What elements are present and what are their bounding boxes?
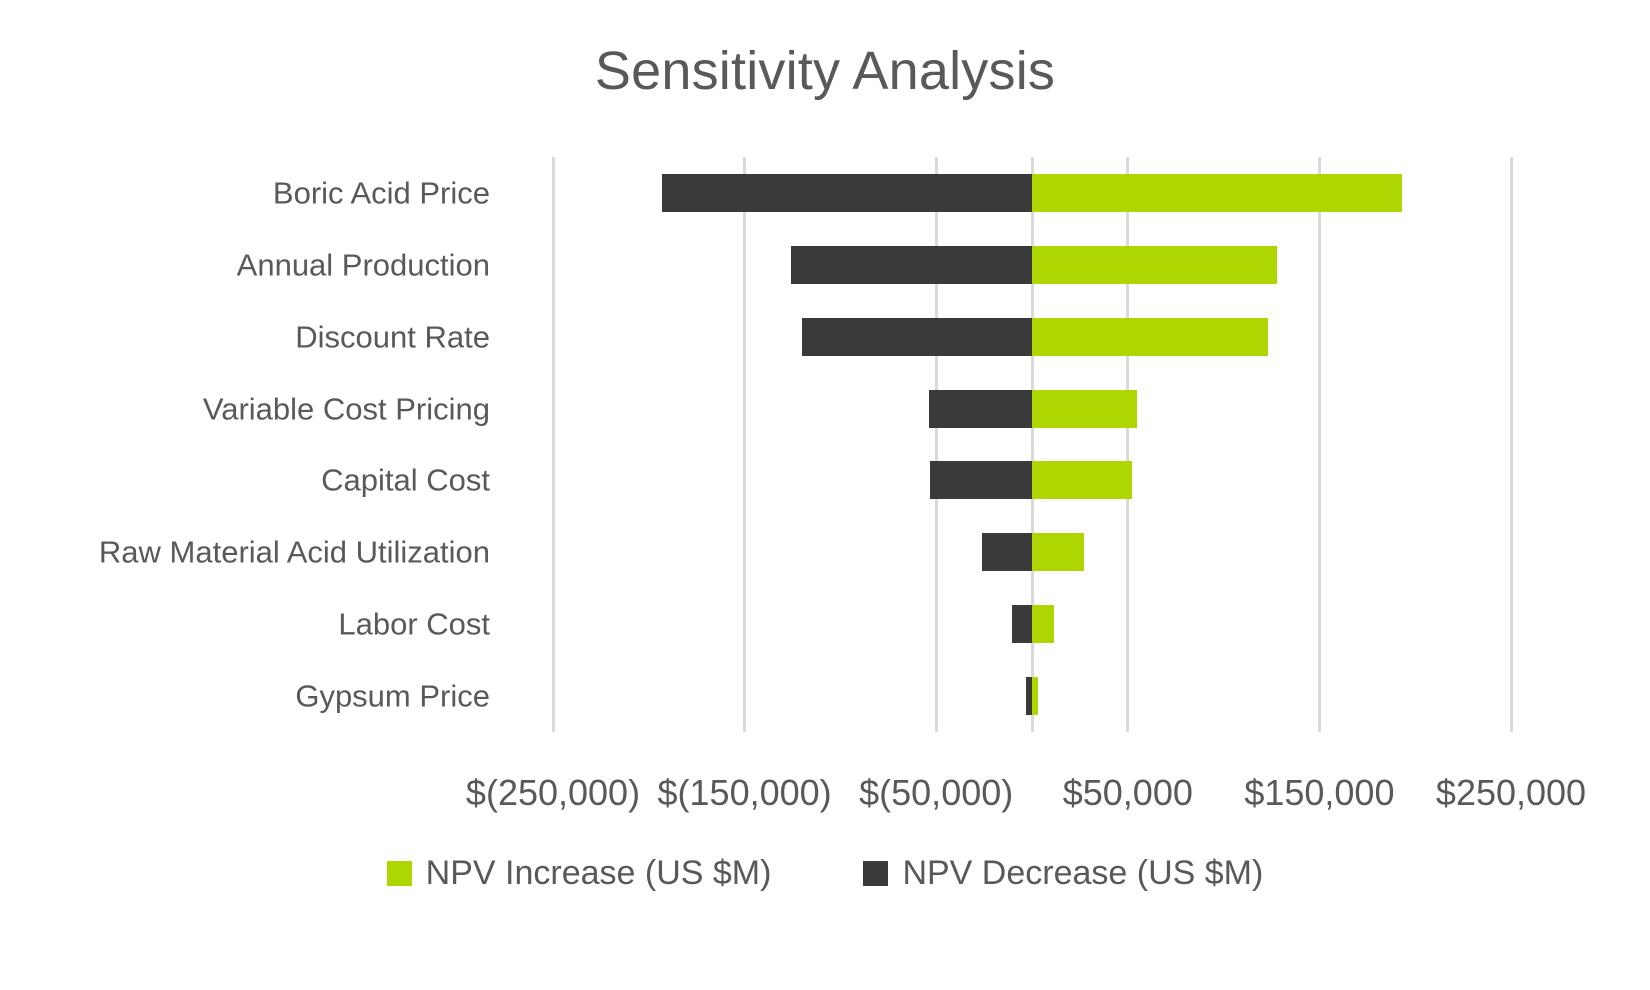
bar-row: Capital Cost [0, 445, 1650, 517]
bar-npv-decrease[interactable] [930, 461, 1032, 499]
bar-npv-increase[interactable] [1032, 677, 1038, 715]
bar-npv-decrease[interactable] [662, 174, 1032, 212]
x-tick-label: $(150,000) [658, 770, 832, 815]
category-label: Boric Acid Price [273, 177, 490, 208]
bar-npv-increase[interactable] [1032, 461, 1132, 499]
chart-legend: NPV Increase (US $M)NPV Decrease (US $M) [0, 856, 1650, 890]
category-label: Capital Cost [321, 465, 490, 496]
bar-row: Annual Production [0, 229, 1650, 301]
chart-title: Sensitivity Analysis [0, 42, 1650, 101]
bar-npv-increase[interactable] [1032, 533, 1084, 571]
bar-npv-increase[interactable] [1032, 174, 1402, 212]
category-label: Gypsum Price [295, 681, 490, 712]
sensitivity-analysis-chart: Sensitivity Analysis Boric Acid PriceAnn… [0, 0, 1650, 990]
x-tick-label: $(50,000) [859, 770, 1013, 815]
legend-item[interactable]: NPV Decrease (US $M) [863, 856, 1263, 890]
category-label: Labor Cost [338, 609, 490, 640]
category-label: Raw Material Acid Utilization [99, 537, 490, 568]
category-label: Variable Cost Pricing [203, 393, 490, 424]
bar-row: Discount Rate [0, 301, 1650, 373]
bar-npv-increase[interactable] [1032, 605, 1054, 643]
legend-label: NPV Increase (US $M) [426, 856, 772, 890]
category-label: Annual Production [237, 249, 490, 280]
legend-swatch-decrease-icon [863, 861, 888, 886]
legend-swatch-increase-icon [387, 861, 412, 886]
x-axis-tick-labels: $(250,000)$(150,000)$(50,000)$50,000$150… [0, 770, 1650, 820]
bar-row: Variable Cost Pricing [0, 373, 1650, 445]
bar-npv-decrease[interactable] [929, 390, 1032, 428]
legend-item[interactable]: NPV Increase (US $M) [387, 856, 772, 890]
bar-npv-decrease[interactable] [982, 533, 1032, 571]
bar-row: Gypsum Price [0, 660, 1650, 732]
bar-row: Raw Material Acid Utilization [0, 516, 1650, 588]
x-tick-label: $150,000 [1244, 770, 1394, 815]
bar-rows-layer: Boric Acid PriceAnnual ProductionDiscoun… [0, 157, 1650, 732]
x-tick-label: $50,000 [1063, 770, 1193, 815]
legend-label: NPV Decrease (US $M) [902, 856, 1263, 890]
bar-row: Boric Acid Price [0, 157, 1650, 229]
bar-row: Labor Cost [0, 588, 1650, 660]
bar-npv-increase[interactable] [1032, 246, 1277, 284]
bar-npv-decrease[interactable] [802, 318, 1032, 356]
category-label: Discount Rate [295, 321, 490, 352]
x-tick-label: $(250,000) [466, 770, 640, 815]
bar-npv-increase[interactable] [1032, 390, 1137, 428]
bar-npv-increase[interactable] [1032, 318, 1268, 356]
bar-npv-decrease[interactable] [1012, 605, 1032, 643]
x-tick-label: $250,000 [1436, 770, 1586, 815]
bar-npv-decrease[interactable] [791, 246, 1032, 284]
